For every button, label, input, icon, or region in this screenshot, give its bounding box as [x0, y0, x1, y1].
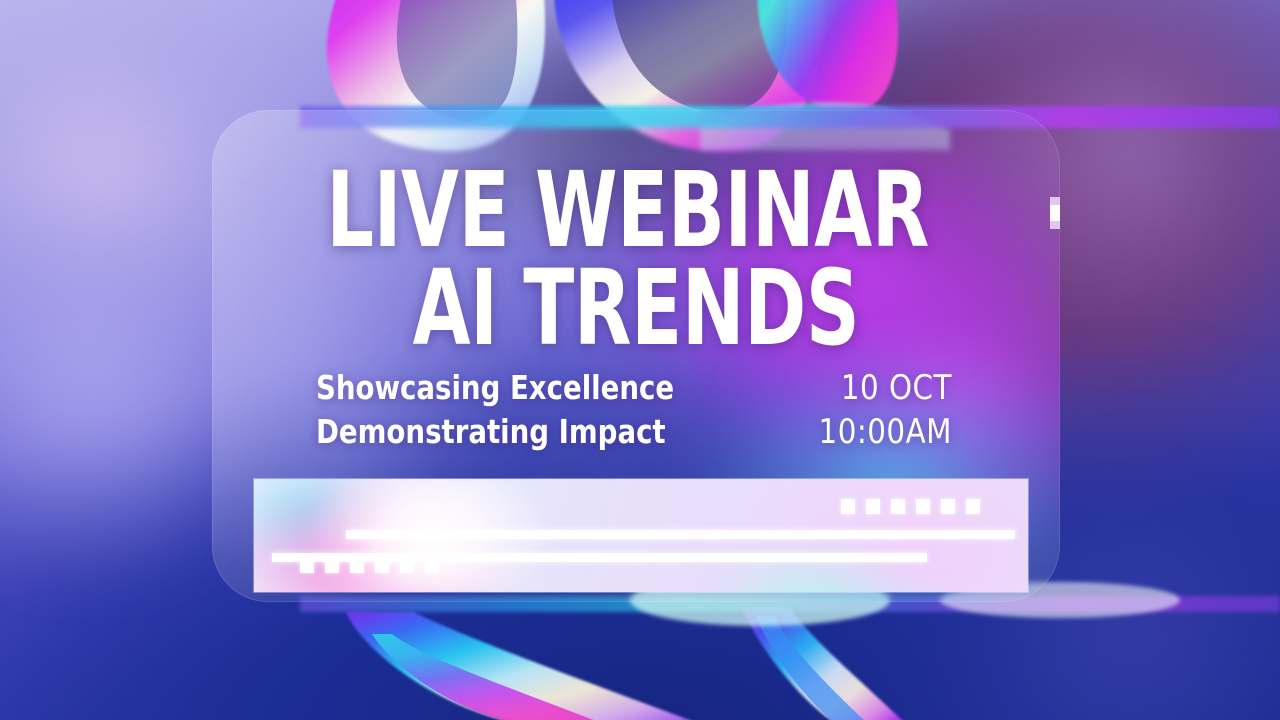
dot-square-icon	[350, 558, 364, 573]
event-time: 10:00AM	[819, 410, 952, 454]
dot-square-icon	[375, 558, 389, 573]
dot-square-icon	[841, 499, 855, 514]
panel-decorations	[254, 479, 1028, 592]
dot-square-icon	[891, 499, 905, 514]
dot-square-icon	[400, 558, 414, 573]
tagline-date-row: Showcasing Excellence Demonstrating Impa…	[316, 366, 952, 454]
dot-square-icon	[325, 558, 339, 573]
dot-square-icon	[941, 499, 955, 514]
dot-square-icon	[425, 558, 439, 573]
dot-row-top	[841, 499, 980, 514]
event-date: 10 OCT	[819, 366, 952, 410]
date-time-block: 10 OCT 10:00AM	[819, 366, 952, 454]
dot-row-bottom	[300, 558, 439, 573]
accent-bar-top	[346, 530, 1015, 539]
tagline-block: Showcasing Excellence Demonstrating Impa…	[316, 366, 674, 453]
headline-line2: AI TRENDS	[297, 264, 975, 353]
framed-square-marker-right-icon	[1050, 197, 1060, 229]
tagline-line1: Showcasing Excellence	[316, 366, 674, 410]
bottom-info-panel	[254, 479, 1028, 592]
card-content: LIVE WEBINAR AI TRENDS Showcasing Excell…	[212, 110, 1060, 602]
framed-square-inner	[1050, 205, 1060, 221]
tagline-line2: Demonstrating Impact	[316, 410, 674, 454]
dot-square-icon	[300, 558, 314, 573]
dot-square-icon	[916, 499, 930, 514]
headline-line1: LIVE WEBINAR	[326, 166, 929, 255]
dot-square-icon	[866, 499, 880, 514]
headline-row: LIVE WEBINAR	[212, 166, 1060, 255]
poster-canvas: LIVE WEBINAR AI TRENDS Showcasing Excell…	[0, 0, 1280, 720]
glass-card: LIVE WEBINAR AI TRENDS Showcasing Excell…	[212, 110, 1060, 602]
dot-square-icon	[966, 499, 980, 514]
